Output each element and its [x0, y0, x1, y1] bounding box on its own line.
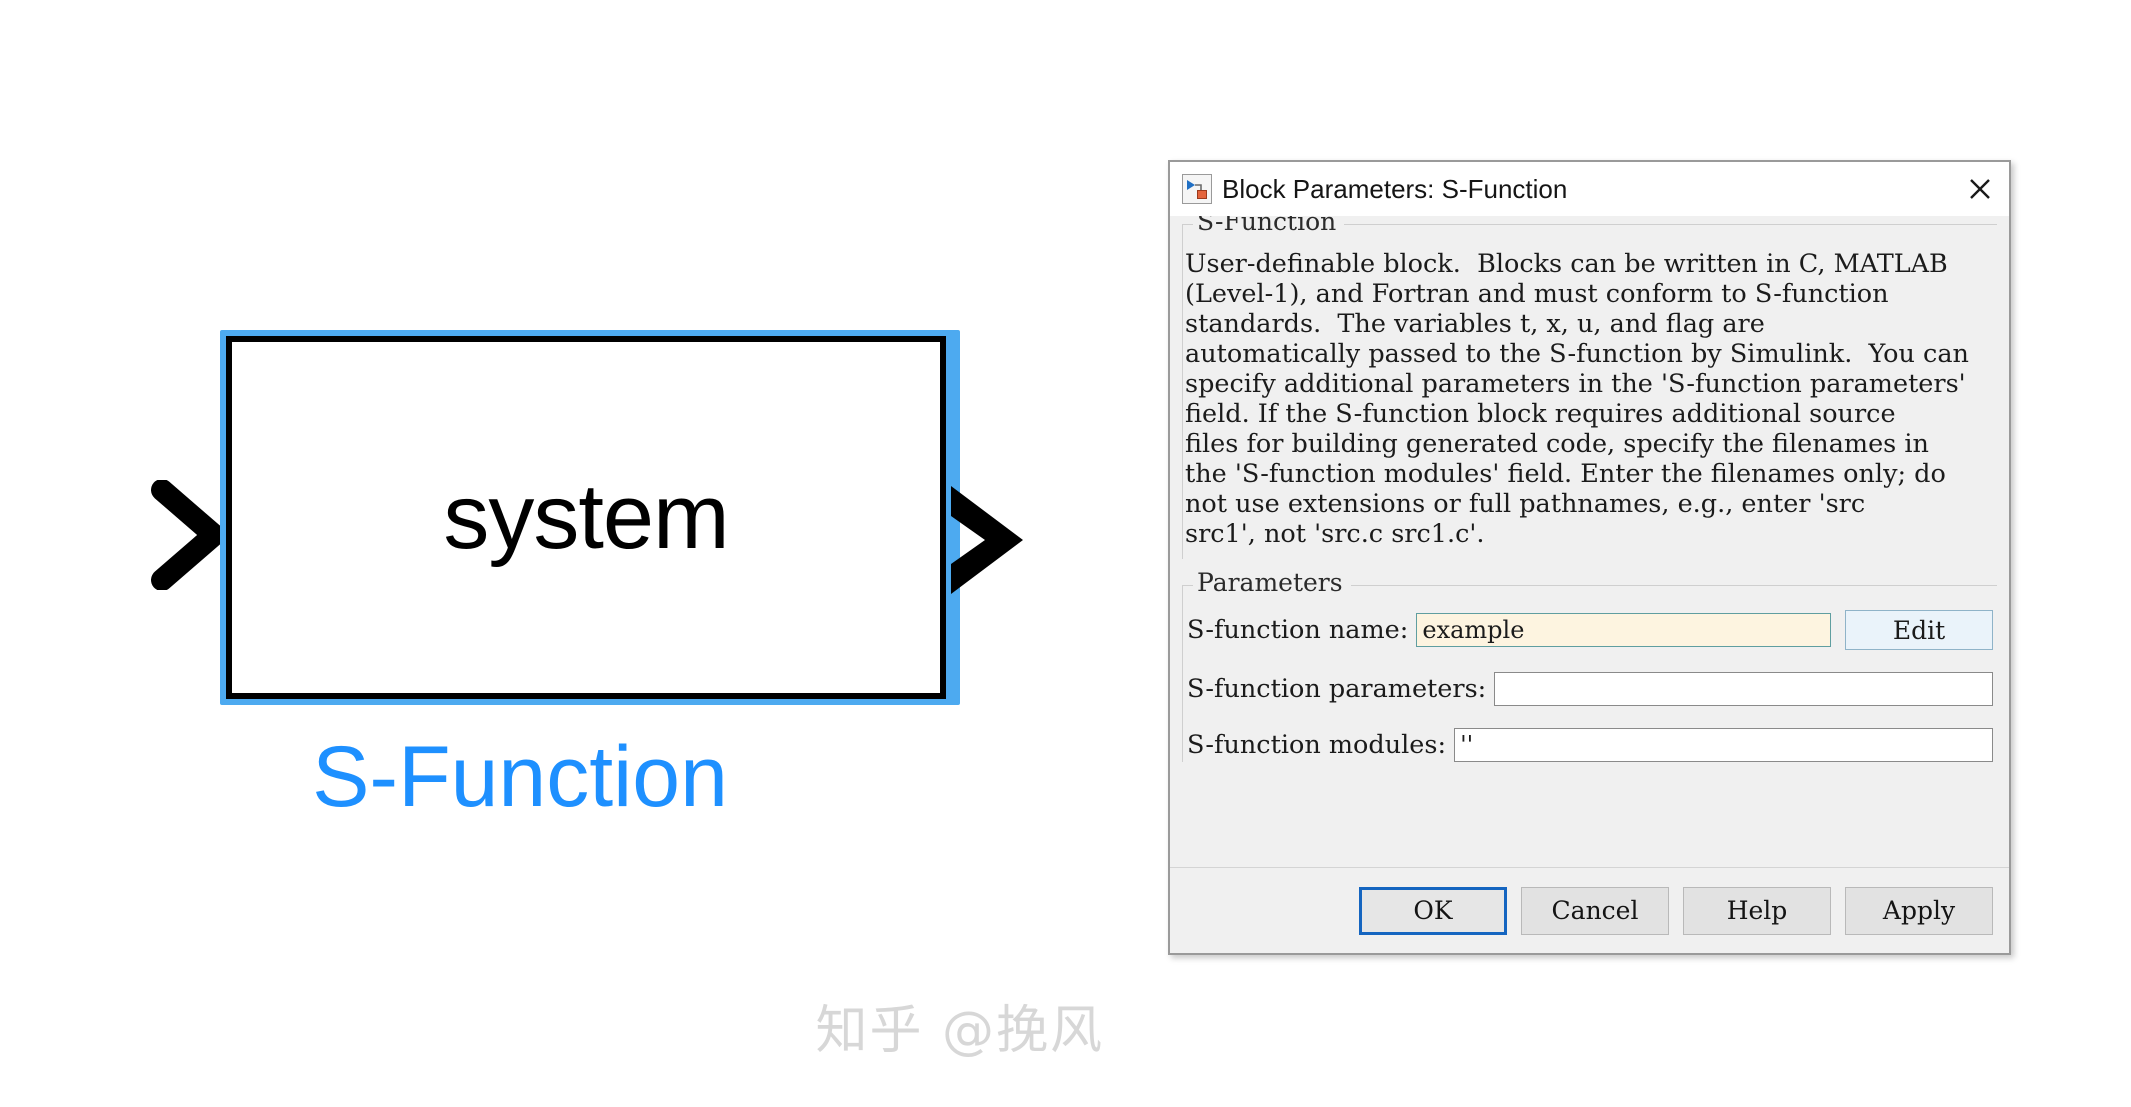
dialog-footer: OK Cancel Help Apply — [1170, 867, 2009, 953]
sfunction-block[interactable]: system — [150, 330, 1050, 710]
parameters-group-title: Parameters — [1193, 568, 1351, 597]
output-port-arrow-icon — [945, 480, 1035, 600]
simulink-block-icon — [1182, 174, 1212, 204]
dialog-body: S-Function User-definable block. Blocks … — [1170, 216, 2009, 867]
watermark: 知乎 @挽风 — [815, 988, 1104, 1063]
apply-button[interactable]: Apply — [1845, 887, 1993, 935]
param-row-sfunction-parameters: S-function parameters: — [1187, 650, 1993, 706]
block-parameters-dialog: Block Parameters: S-Function S-Function … — [1168, 160, 2011, 955]
cancel-button[interactable]: Cancel — [1521, 887, 1669, 935]
input-port-arrow-icon — [150, 480, 226, 590]
sfunction-name-label: S-function name: — [1187, 615, 1408, 645]
dialog-title: Block Parameters: S-Function — [1222, 174, 1951, 205]
parameters-group: Parameters S-function name: example Edit… — [1182, 585, 1997, 762]
sfunction-modules-label: S-function modules: — [1187, 730, 1446, 760]
sfunction-parameters-input[interactable] — [1494, 672, 1993, 706]
help-button[interactable]: Help — [1683, 887, 1831, 935]
sfunction-description-text: User-definable block. Blocks can be writ… — [1183, 227, 1997, 559]
sfunction-group-title: S-Function — [1193, 216, 1344, 236]
sfunction-modules-input[interactable]: '' — [1454, 728, 1993, 762]
param-row-sfunction-name: S-function name: example Edit — [1187, 588, 1993, 650]
ok-button[interactable]: OK — [1359, 887, 1507, 935]
close-icon[interactable] — [1951, 162, 2009, 216]
edit-button[interactable]: Edit — [1845, 610, 1993, 650]
dialog-titlebar: Block Parameters: S-Function — [1170, 162, 2009, 216]
block-inner-label: system — [226, 336, 946, 699]
block-caption-label: S-Function — [150, 728, 890, 827]
sfunction-parameters-label: S-function parameters: — [1187, 674, 1486, 704]
sfunction-name-input[interactable]: example — [1416, 613, 1831, 647]
param-row-sfunction-modules: S-function modules: '' — [1187, 706, 1993, 762]
sfunction-description-group: S-Function User-definable block. Blocks … — [1182, 224, 1997, 559]
simulink-canvas: system S-Function 知乎 @挽风 — [0, 0, 1140, 1107]
